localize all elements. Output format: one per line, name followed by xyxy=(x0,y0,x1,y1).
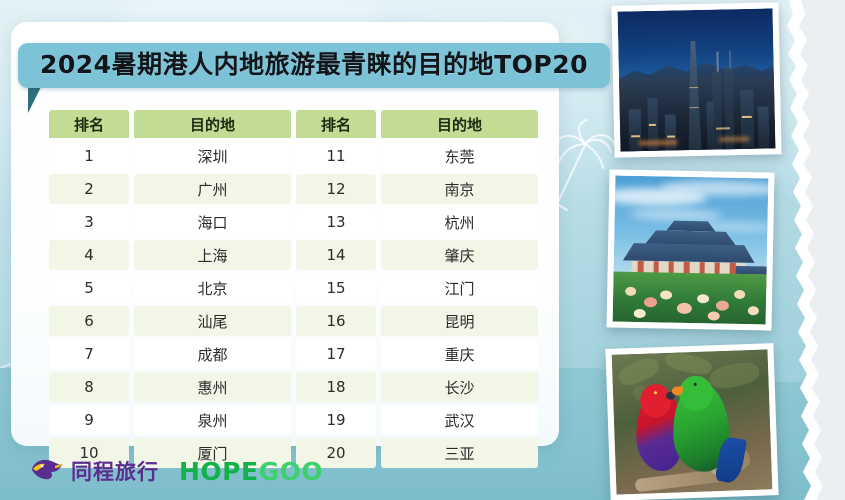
brand-tongcheng[interactable]: 同程旅行 xyxy=(30,456,159,486)
table-cell-destination: 海口 xyxy=(134,207,291,237)
building xyxy=(706,102,714,150)
table-cell-destination: 江门 xyxy=(381,273,538,303)
table-cell-destination: 泉州 xyxy=(134,405,291,435)
banner-tail xyxy=(28,87,41,113)
flower xyxy=(660,290,672,299)
building xyxy=(665,114,677,151)
column-rank-right: 排名 11 12 13 14 15 16 17 18 19 20 xyxy=(296,110,376,468)
table-cell-destination: 东莞 xyxy=(381,141,538,171)
column-header-rank: 排名 xyxy=(49,110,129,138)
eye-red xyxy=(653,391,656,394)
title-banner: 2024暑期港人内地旅游最青睐的目的地TOP20 xyxy=(18,43,610,88)
table-cell-rank: 13 xyxy=(296,207,376,237)
table-cell-rank: 11 xyxy=(296,141,376,171)
window-light xyxy=(689,87,698,89)
window-light xyxy=(716,128,730,130)
table-cell-destination: 成都 xyxy=(134,339,291,369)
window-light xyxy=(742,116,752,118)
table-cell-rank: 3 xyxy=(49,207,129,237)
table-cell-destination: 深圳 xyxy=(134,141,291,171)
table-cell-rank: 17 xyxy=(296,339,376,369)
flower xyxy=(747,306,758,315)
table-cell-destination: 长沙 xyxy=(381,372,538,402)
column-destination-right: 目的地 东莞 南京 杭州 肇庆 江门 昆明 重庆 长沙 武汉 三亚 xyxy=(381,110,538,468)
window-light xyxy=(667,136,675,138)
photo-parrots xyxy=(605,343,778,500)
column-rank-left: 排名 1 2 3 4 5 6 7 8 9 10 xyxy=(49,110,129,468)
table-cell-destination: 杭州 xyxy=(381,207,538,237)
beak-green xyxy=(672,386,683,395)
photo-image xyxy=(613,176,769,325)
window-light xyxy=(689,106,698,108)
table-cell-destination: 三亚 xyxy=(381,438,538,468)
table-cell-destination: 北京 xyxy=(134,273,291,303)
flower xyxy=(697,294,709,303)
infographic-canvas: 2024暑期港人内地旅游最青睐的目的地TOP20 排名 1 2 3 4 5 6 … xyxy=(0,0,845,500)
table-cell-rank: 6 xyxy=(49,306,129,336)
table-cell-destination: 重庆 xyxy=(381,339,538,369)
street-glow xyxy=(639,141,677,146)
table-cell-rank: 12 xyxy=(296,174,376,204)
table-cell-destination: 惠州 xyxy=(134,372,291,402)
table-half-left: 排名 1 2 3 4 5 6 7 8 9 10 目的地 深圳 广州 海口 上海 … xyxy=(49,110,291,468)
photo-image xyxy=(618,8,776,151)
tongcheng-label: 同程旅行 xyxy=(71,456,159,486)
roof-top xyxy=(666,220,715,231)
flower xyxy=(634,309,646,318)
column-destination-left: 目的地 深圳 广州 海口 上海 北京 汕尾 成都 惠州 泉州 厦门 xyxy=(134,110,291,468)
table-cell-rank: 7 xyxy=(49,339,129,369)
table-cell-destination: 上海 xyxy=(134,240,291,270)
page-title: 2024暑期港人内地旅游最青睐的目的地TOP20 xyxy=(40,52,588,78)
table-cell-rank: 8 xyxy=(49,372,129,402)
photo-shenzhen-skyline xyxy=(611,2,781,157)
table-cell-rank: 2 xyxy=(49,174,129,204)
table-cell-destination: 广州 xyxy=(134,174,291,204)
table-cell-rank: 16 xyxy=(296,306,376,336)
table-half-right: 排名 11 12 13 14 15 16 17 18 19 20 目的地 东莞 … xyxy=(296,110,538,468)
building xyxy=(758,106,770,148)
table-cell-rank: 15 xyxy=(296,273,376,303)
table-cell-destination: 汕尾 xyxy=(134,306,291,336)
hopegoo-label-part1: HOPE xyxy=(179,457,259,486)
table-cell-rank: 5 xyxy=(49,273,129,303)
column-header-destination: 目的地 xyxy=(381,110,538,138)
table-cell-destination: 南京 xyxy=(381,174,538,204)
photo-image xyxy=(612,349,773,494)
window-light xyxy=(631,135,640,137)
table-cell-rank: 9 xyxy=(49,405,129,435)
table-cell-destination: 昆明 xyxy=(381,306,538,336)
table-cell-rank: 19 xyxy=(296,405,376,435)
street-glow xyxy=(719,137,749,142)
table-cell-rank: 1 xyxy=(49,141,129,171)
table-cell-rank: 14 xyxy=(296,240,376,270)
table-cell-destination: 武汉 xyxy=(381,405,538,435)
window-light xyxy=(649,124,656,126)
hopegoo-label-part2: GOO xyxy=(259,457,324,486)
footer-branding: 同程旅行 HOPE GOO xyxy=(30,456,323,486)
ranking-table: 排名 1 2 3 4 5 6 7 8 9 10 目的地 深圳 广州 海口 上海 … xyxy=(49,110,538,468)
brand-hopegoo[interactable]: HOPE GOO xyxy=(179,457,323,486)
photo-memorial-hall xyxy=(606,169,774,330)
column-header-rank: 排名 xyxy=(296,110,376,138)
table-cell-destination: 肇庆 xyxy=(381,240,538,270)
table-cell-rank: 18 xyxy=(296,372,376,402)
flower xyxy=(708,311,720,320)
column-header-destination: 目的地 xyxy=(134,110,291,138)
title-banner-wrap: 2024暑期港人内地旅游最青睐的目的地TOP20 xyxy=(18,43,610,88)
flower xyxy=(625,286,636,295)
eye-green xyxy=(694,383,697,386)
tongcheng-bird-icon xyxy=(30,458,64,485)
flower xyxy=(715,300,728,310)
table-cell-rank: 4 xyxy=(49,240,129,270)
